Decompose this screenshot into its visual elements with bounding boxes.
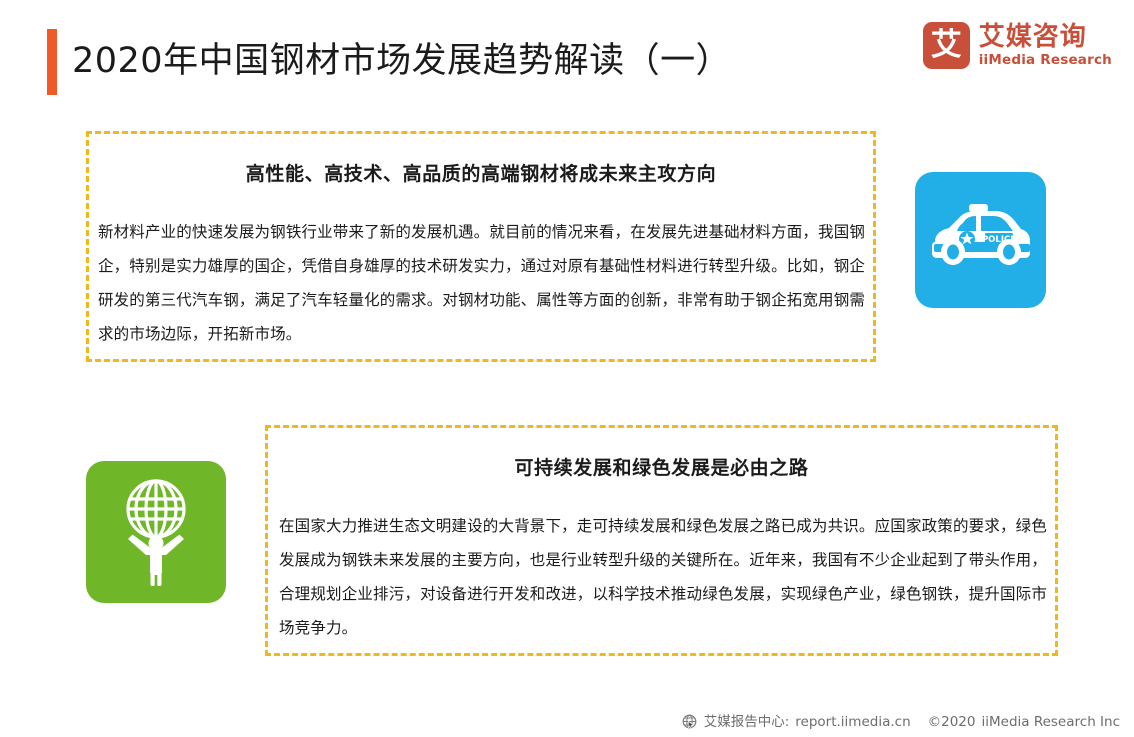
footer-url[interactable]: report.iimedia.cn [795, 713, 910, 731]
card-one-body: 新材料产业的快速发展为钢铁行业带来了新的发展机遇。就目前的情况来看，在发展先进基… [98, 215, 865, 351]
globe-cursor-icon [682, 714, 698, 730]
footer: 艾媒报告中心: report.iimedia.cn ©2020 iiMedia … [0, 713, 1134, 731]
content-card-two: 可持续发展和绿色发展是必由之路 在国家大力推进生态文明建设的大背景下，走可持续发… [265, 425, 1058, 656]
footer-copyright: ©2020 [928, 713, 976, 731]
footer-label: 艾媒报告中心: [704, 713, 790, 731]
card-two-body: 在国家大力推进生态文明建设的大背景下，走可持续发展和绿色发展之路已成为共识。应国… [279, 509, 1047, 645]
brand-name-cn: 艾媒咨询 [979, 23, 1112, 52]
content-card-one: 高性能、高技术、高品质的高端钢材将成未来主攻方向 新材料产业的快速发展为钢铁行业… [86, 131, 876, 362]
globe-person-icon-tile [86, 461, 226, 603]
footer-company: iiMedia Research Inc [981, 713, 1120, 731]
card-two-heading: 可持续发展和绿色发展是必由之路 [268, 453, 1055, 480]
page-title: 2020年中国钢材市场发展趋势解读（一） [72, 28, 731, 94]
iimedia-logo-icon: 艾 [923, 22, 970, 69]
slide-header: 2020年中国钢材市场发展趋势解读（一） 艾 艾媒咨询 iiMedia Rese… [0, 0, 1134, 112]
globe-person-icon [108, 477, 204, 587]
card-one-heading: 高性能、高技术、高品质的高端钢材将成未来主攻方向 [89, 159, 873, 186]
slide-page: 2020年中国钢材市场发展趋势解读（一） 艾 艾媒咨询 iiMedia Rese… [0, 0, 1134, 737]
brand-name-en: iiMedia Research [979, 52, 1112, 69]
brand-text: 艾媒咨询 iiMedia Research [979, 23, 1112, 69]
police-car-icon-tile: POLICE [915, 172, 1046, 308]
brand-logo: 艾 艾媒咨询 iiMedia Research [923, 22, 1112, 69]
police-car-icon: POLICE [929, 202, 1033, 278]
title-accent-bar [47, 29, 57, 95]
